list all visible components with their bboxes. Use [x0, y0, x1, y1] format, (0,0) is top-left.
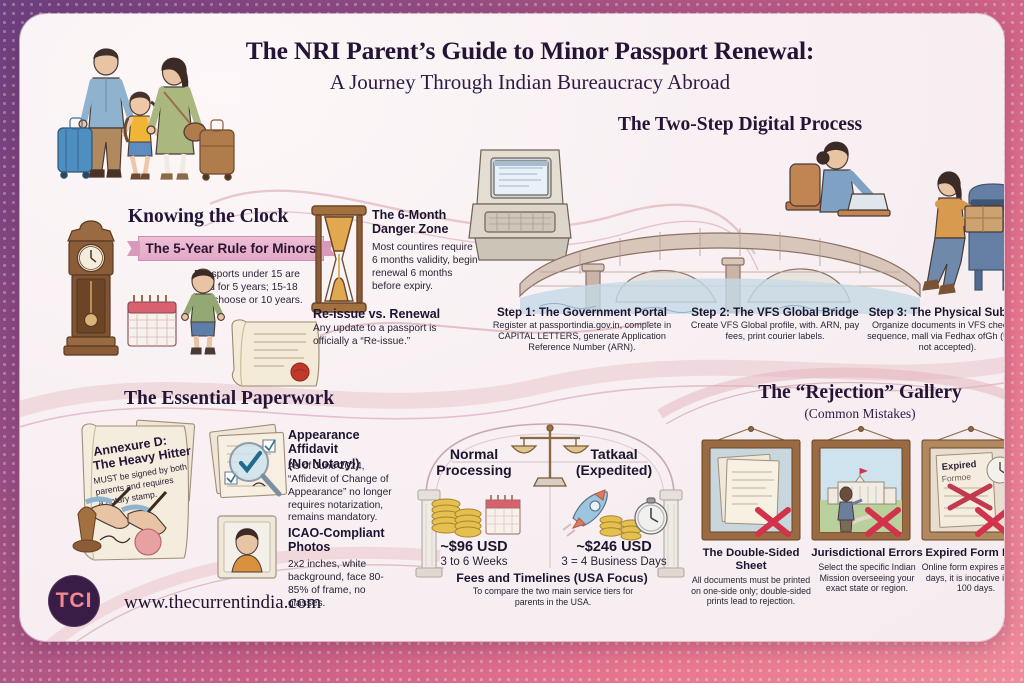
- mailbox-submission-illustration: [913, 166, 1004, 298]
- grandfather-clock-illustration: [58, 219, 124, 359]
- step-3-heading: Step 3: The Physical Submis: [865, 306, 1004, 319]
- hourglass-illustration: [308, 204, 370, 314]
- family-travellers-illustration: [48, 42, 248, 207]
- five-year-rule-ribbon: The 5-Year Rule for Minors: [138, 236, 324, 261]
- icao-photo-illustration: [216, 514, 278, 580]
- icao-photos-title-line2: Photos: [288, 540, 330, 554]
- rejection-frame-jurisdiction: [806, 426, 916, 544]
- rejection-3-body: Online form expires after 45 days, it is…: [920, 562, 1004, 594]
- rejection-3-title: Expired Form Date: [920, 547, 1004, 560]
- rejection-1-title-line2: Sheet: [735, 560, 766, 572]
- rejection-frame-expired-form: Expired Formoe: [916, 426, 1004, 544]
- reissue-body: Any update to a passport is officially a…: [313, 323, 443, 349]
- tier-tatkaal-name-line2: (Expedited): [576, 462, 652, 478]
- step-2-body: Create VFS Global profile, with. ARN, pa…: [685, 320, 865, 342]
- rejection-2-body: Select the specific Indian Mission overs…: [810, 562, 924, 594]
- step-3: Step 3: The Physical Submis Organize doc…: [865, 306, 1004, 353]
- rejection-1-title-line1: The Double-Sided: [703, 547, 800, 559]
- certificate-scroll-illustration: [220, 314, 328, 392]
- tier-normal-name: Normal Processing: [420, 446, 528, 478]
- step-3-body: Organize documents in VFS checklist sequ…: [865, 320, 1004, 353]
- tier-tatkaal-name-line1: Tatkaal: [590, 446, 637, 462]
- step-2: Step 2: The VFS Global Bridge Create VFS…: [685, 306, 865, 342]
- tci-logo: TCI: [48, 575, 100, 627]
- rocket-stopwatch-illustration: [565, 488, 669, 544]
- website-url: www.thecurrentindia.com: [124, 592, 321, 614]
- danger-zone-title-line1: The 6-Month: [372, 208, 446, 222]
- appearance-affidavit-title-line1: Appearance Affidavit: [288, 428, 360, 456]
- rejection-gallery-subtitle: (Common Mistakes): [720, 406, 1000, 422]
- coins-calendar-illustration: [428, 492, 524, 542]
- rejection-caption-2: Jurisdictional Errors Select the specifi…: [810, 547, 924, 594]
- child-illustration: [181, 266, 225, 358]
- tier-tatkaal-amount: ~$246 USD: [554, 539, 674, 555]
- rejection-caption-3: Expired Form Date Online form expires af…: [920, 547, 1004, 594]
- rejection-frame-double-sided: [696, 426, 806, 544]
- danger-zone-title-line2: Danger Zone: [372, 222, 448, 236]
- section-title-knowing-the-clock: Knowing the Clock: [128, 206, 288, 228]
- page-title: The NRI Parent’s Guide to Minor Passport…: [190, 36, 870, 66]
- woman-at-laptop-illustration: [780, 134, 890, 244]
- tier-normal-time: 3 to 6 Weeks: [420, 556, 528, 568]
- fees-caption-title: Fees and Timelines (USA Focus): [440, 571, 664, 585]
- page-subtitle: A Journey Through Indian Bureaucracy Abr…: [190, 70, 870, 95]
- reissue-title: Re-issue vs. Renewal: [313, 307, 463, 321]
- appearance-affidavit-body: As of June 2024, “Affidevit of Change of…: [288, 461, 392, 525]
- tier-tatkaal-time: 3 = 4 Business Days: [550, 556, 678, 568]
- tier-normal-name-line2: Processing: [436, 462, 511, 478]
- section-title-essential-paperwork: The Essential Paperwork: [124, 388, 334, 410]
- fees-caption-body: To compare the two main service tiers fo…: [460, 586, 646, 607]
- step-2-heading: Step 2: The VFS Global Bridge: [685, 306, 865, 319]
- step-1-body: Register at passportindia.gov.in, comple…: [482, 320, 682, 353]
- step-1: Step 1: The Government Portal Register a…: [482, 306, 682, 353]
- tier-normal-amount: ~$96 USD: [420, 539, 528, 555]
- icao-photos-title-line1: ICAO-Compliant: [288, 526, 385, 540]
- section-title-rejection-gallery: The “Rejection” Gallery: [720, 382, 1000, 404]
- icao-photos-title: ICAO-Compliant Photos: [288, 526, 412, 555]
- calendar-illustration: [123, 292, 181, 352]
- rejection-2-title: Jurisdictional Errors: [810, 547, 924, 560]
- infographic-card: The NRI Parent’s Guide to Minor Passport…: [20, 14, 1004, 641]
- tier-tatkaal-name: Tatkaal (Expedited): [560, 446, 668, 478]
- section-title-digital-process: The Two-Step Digital Process: [580, 114, 900, 136]
- rejection-1-body: All documents must be printed on one-sid…: [686, 575, 816, 607]
- tier-normal-name-line1: Normal: [450, 446, 498, 462]
- step-1-heading: Step 1: The Government Portal: [482, 306, 682, 319]
- rejection-caption-1: The Double-Sided Sheet All documents mus…: [686, 547, 816, 607]
